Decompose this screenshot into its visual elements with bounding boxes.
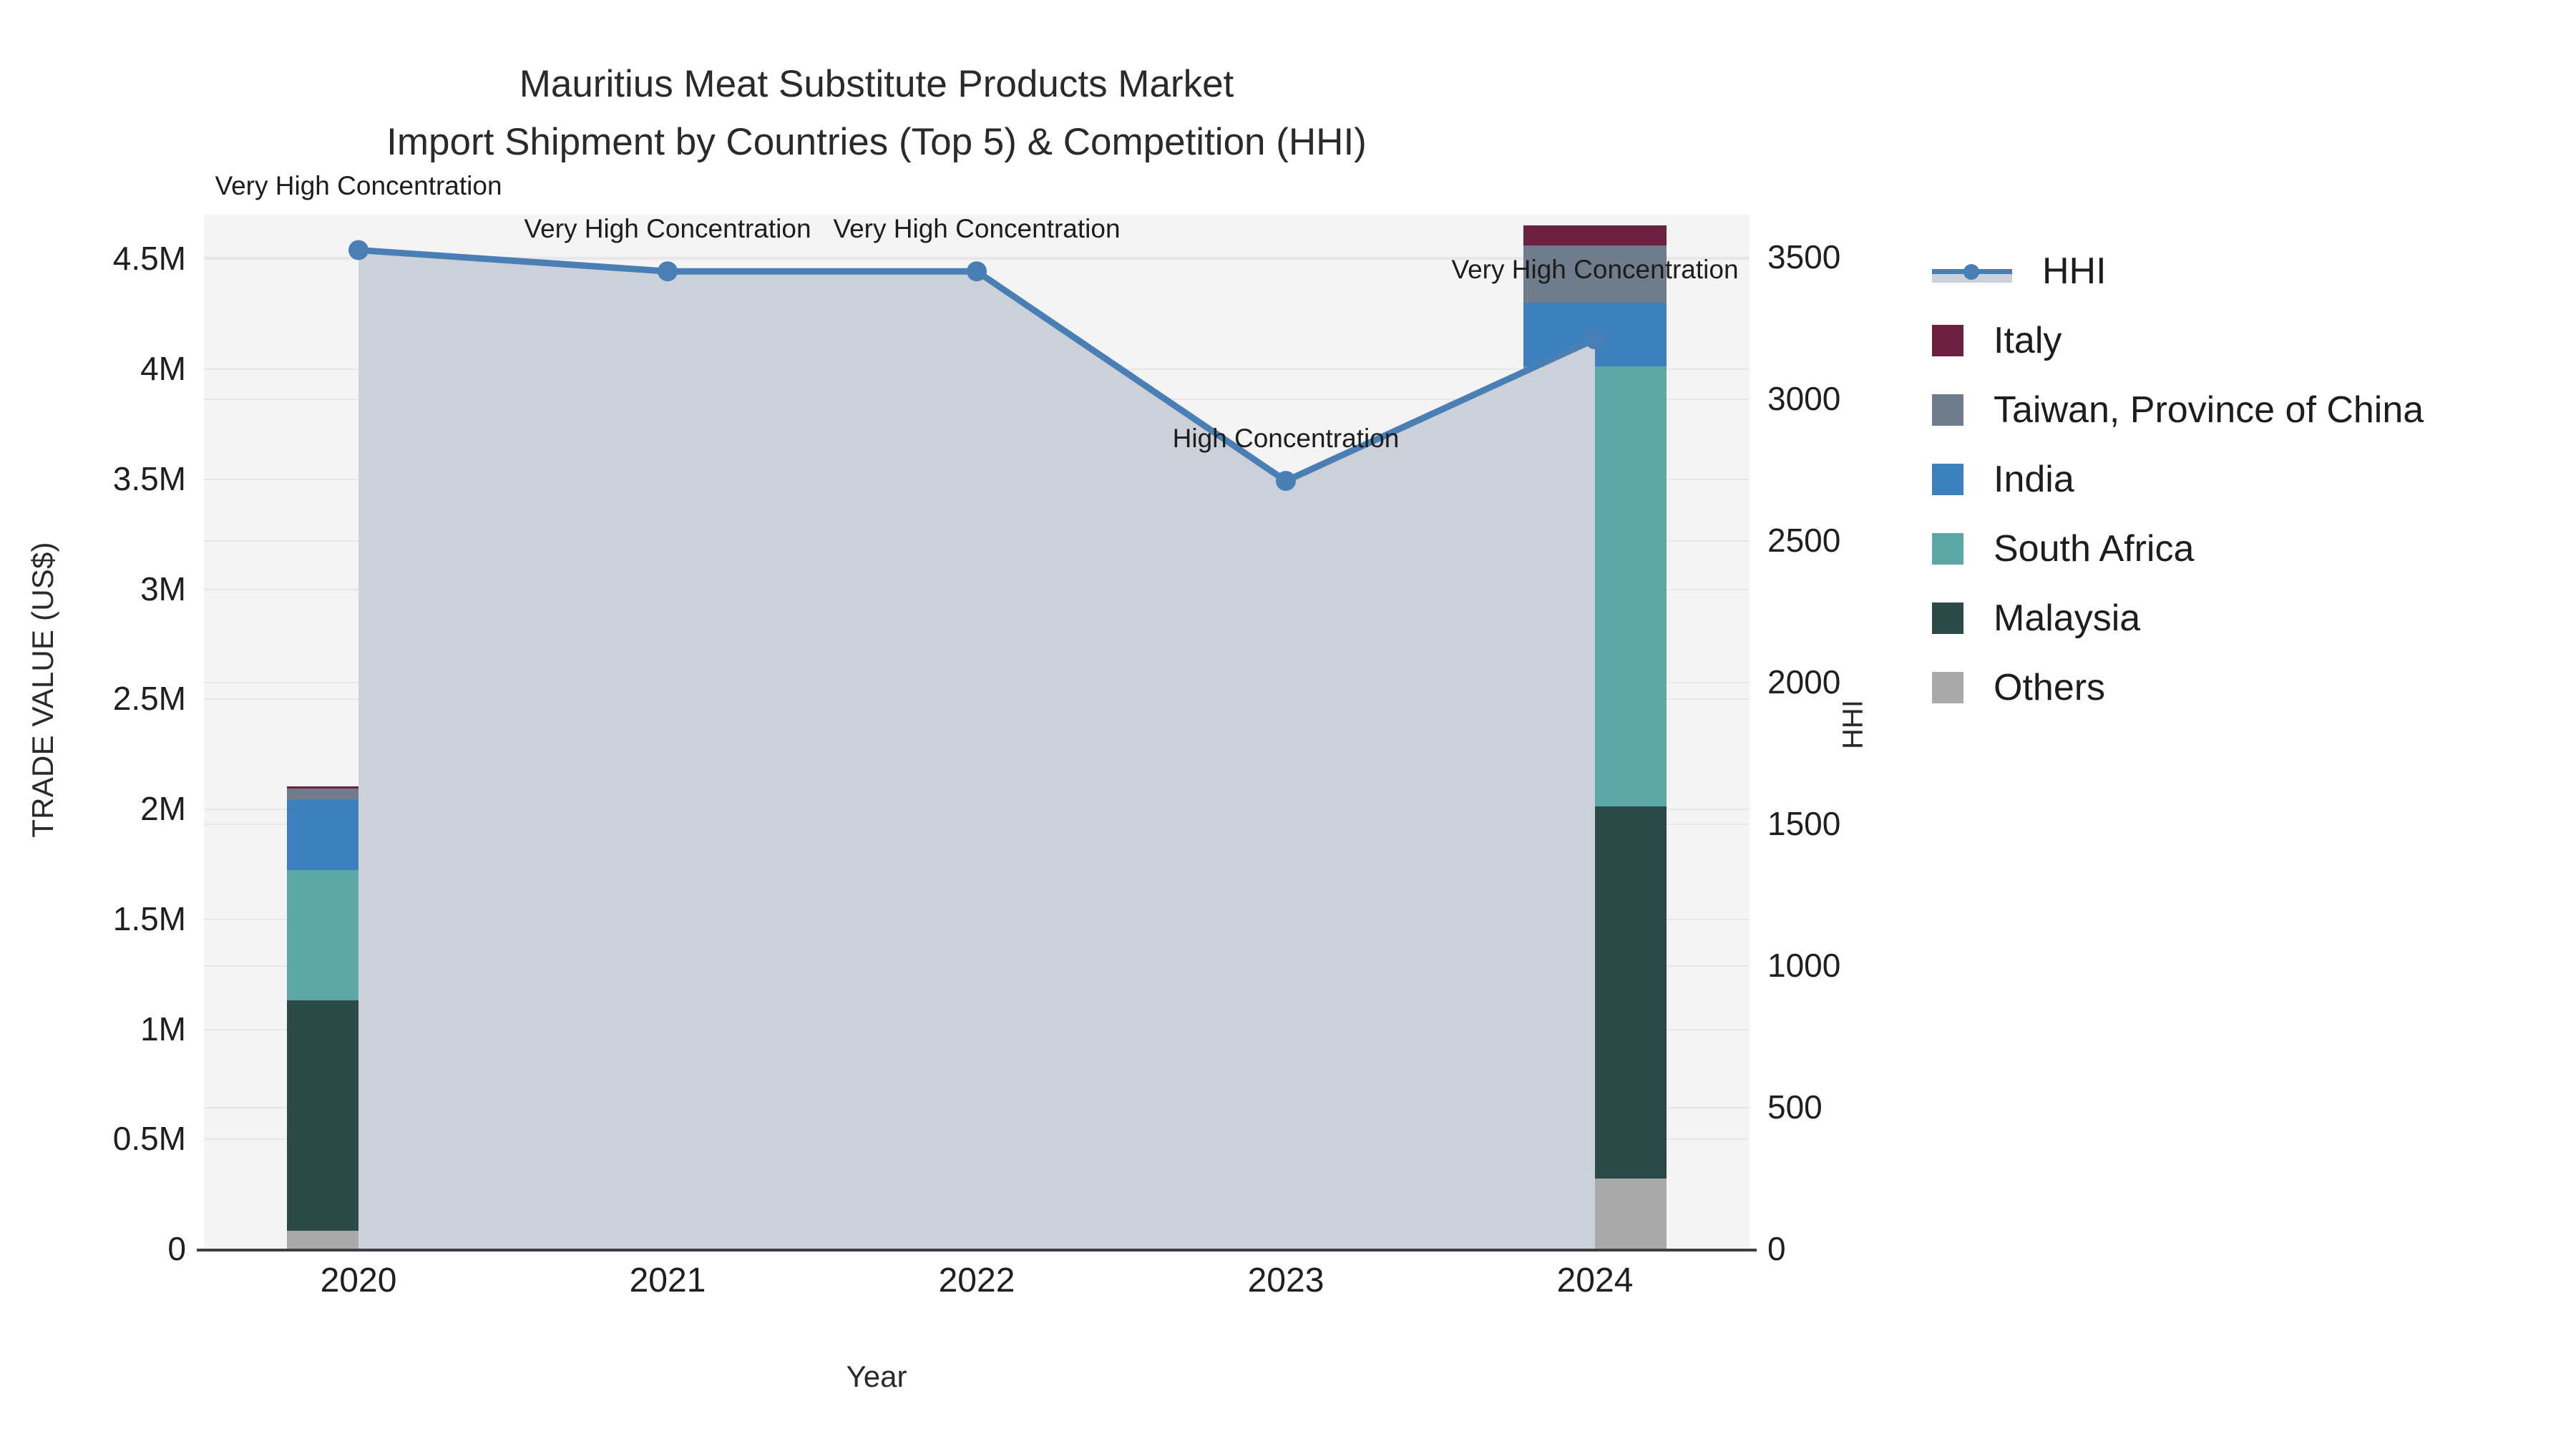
bar-segment[interactable] [1214,677,1357,718]
x-tick-label: 2024 [1557,1261,1634,1300]
bar-segment[interactable] [1523,1179,1667,1249]
gridline-left [204,479,1750,480]
y-tick-label-left: 3.5M [113,459,186,498]
annotation-label: Very High Concentration [524,214,811,244]
y-tick-label-left: 4.5M [113,239,186,278]
chart-root: Mauritius Meat Substitute Products Marke… [0,0,2576,1449]
bar-segment[interactable] [1523,225,1667,245]
bar-segment[interactable] [1214,877,1357,1149]
y-tick-label-right: 500 [1767,1088,1823,1126]
stacked-bar[interactable] [287,786,430,1249]
x-axis-label: Year [0,1360,1753,1394]
bar-segment[interactable] [1214,753,1357,877]
bar-segment[interactable] [596,784,739,839]
bar-segment[interactable] [905,655,1048,673]
stacked-bar[interactable] [1523,225,1667,1249]
legend-item[interactable]: Others [1932,653,2424,722]
bar-segment[interactable] [287,870,430,1000]
y-tick-label-left: 1M [140,1010,186,1048]
legend-item-label: South Africa [1994,527,2194,570]
bar-segment[interactable] [905,673,1048,699]
stacked-bar[interactable] [1214,659,1357,1249]
x-tick-label: 2020 [321,1261,397,1300]
bar-segment[interactable] [1214,659,1357,677]
bar-segment[interactable] [287,1231,430,1249]
x-tick-label: 2022 [939,1261,1015,1300]
gridline-right [204,399,1750,400]
chart-legend: HHIItalyTaiwan, Province of ChinaIndiaSo… [1932,236,2424,722]
y-tick-label-right: 1500 [1767,804,1840,843]
y-tick-label-left: 0.5M [113,1119,186,1158]
bar-segment[interactable] [596,756,739,784]
bar-segment[interactable] [596,839,739,1015]
y-tick-label-left: 2.5M [113,679,186,718]
y-tick-label-left: 4M [140,349,186,388]
legend-color-swatch [1932,325,1963,356]
bar-segment[interactable] [1523,366,1667,806]
y-tick-label-right: 0 [1767,1229,1786,1268]
y-axis-right-ticks: 0500100015002000250030003500 [1767,0,1982,1449]
legend-color-swatch [1932,464,1963,495]
legend-item-label: Malaysia [1994,597,2140,640]
bar-segment[interactable] [905,1229,1048,1249]
bar-segment[interactable] [905,756,1048,936]
bar-segment[interactable] [287,800,430,870]
bar-segment[interactable] [596,1015,739,1244]
legend-color-swatch [1932,602,1963,634]
legend-item-label: Taiwan, Province of China [1994,389,2424,431]
legend-item[interactable]: HHI [1932,236,2424,306]
y-tick-label-right: 2500 [1767,521,1840,560]
chart-title: Mauritius Meat Substitute Products Marke… [0,56,1753,171]
legend-item[interactable]: South Africa [1932,514,2424,583]
legend-item-label: HHI [2042,250,2107,293]
y-tick-label-left: 0 [167,1229,186,1268]
y-tick-label-left: 3M [140,570,186,608]
y-tick-label-right: 2000 [1767,663,1840,701]
legend-line-icon [1932,255,2012,287]
x-tick-label: 2023 [1248,1261,1324,1300]
chart-title-line-2: Import Shipment by Countries (Top 5) & C… [0,114,1753,172]
legend-color-swatch [1932,394,1963,426]
gridline-right [204,540,1750,542]
x-axis-line [197,1249,1757,1252]
legend-item[interactable]: Malaysia [1932,583,2424,653]
bar-segment[interactable] [1523,806,1667,1179]
annotation-label: Very High Concentration [1451,255,1738,285]
bar-segment[interactable] [1214,718,1357,753]
annotation-label: High Concentration [1173,424,1400,454]
chart-title-line-1: Mauritius Meat Substitute Products Marke… [0,56,1753,114]
stacked-bar[interactable] [596,751,739,1249]
bar-segment[interactable] [596,751,739,756]
legend-color-swatch [1932,672,1963,703]
legend-item[interactable]: Taiwan, Province of China [1932,375,2424,444]
gridline-left [204,589,1750,590]
bar-segment[interactable] [1523,303,1667,366]
bar-segment[interactable] [1214,1150,1357,1249]
y-tick-label-right: 3000 [1767,379,1840,418]
stacked-bar[interactable] [905,655,1048,1249]
bar-segment[interactable] [287,786,430,789]
y-tick-label-left: 1.5M [113,899,186,938]
legend-item[interactable]: Italy [1932,306,2424,375]
y-tick-label-right: 3500 [1767,238,1840,276]
gridline-left [204,369,1750,370]
y-axis-left-ticks: 00.5M1M1.5M2M2.5M3M3.5M4M4.5M [0,0,187,1449]
bar-segment[interactable] [905,698,1048,756]
legend-item-label: Italy [1994,319,2062,362]
plot-area [204,215,1750,1249]
annotation-label: Very High Concentration [215,171,502,201]
legend-item-label: Others [1994,666,2105,709]
legend-color-swatch [1932,533,1963,565]
legend-item[interactable]: India [1932,444,2424,514]
y-tick-label-left: 2M [140,789,186,828]
y-tick-label-right: 1000 [1767,946,1840,985]
bar-segment[interactable] [905,936,1048,1229]
bar-segment[interactable] [287,1000,430,1231]
annotation-label: Very High Concentration [833,214,1120,244]
x-tick-label: 2021 [630,1261,706,1300]
bar-segment[interactable] [287,789,430,799]
legend-item-label: India [1994,458,2074,501]
